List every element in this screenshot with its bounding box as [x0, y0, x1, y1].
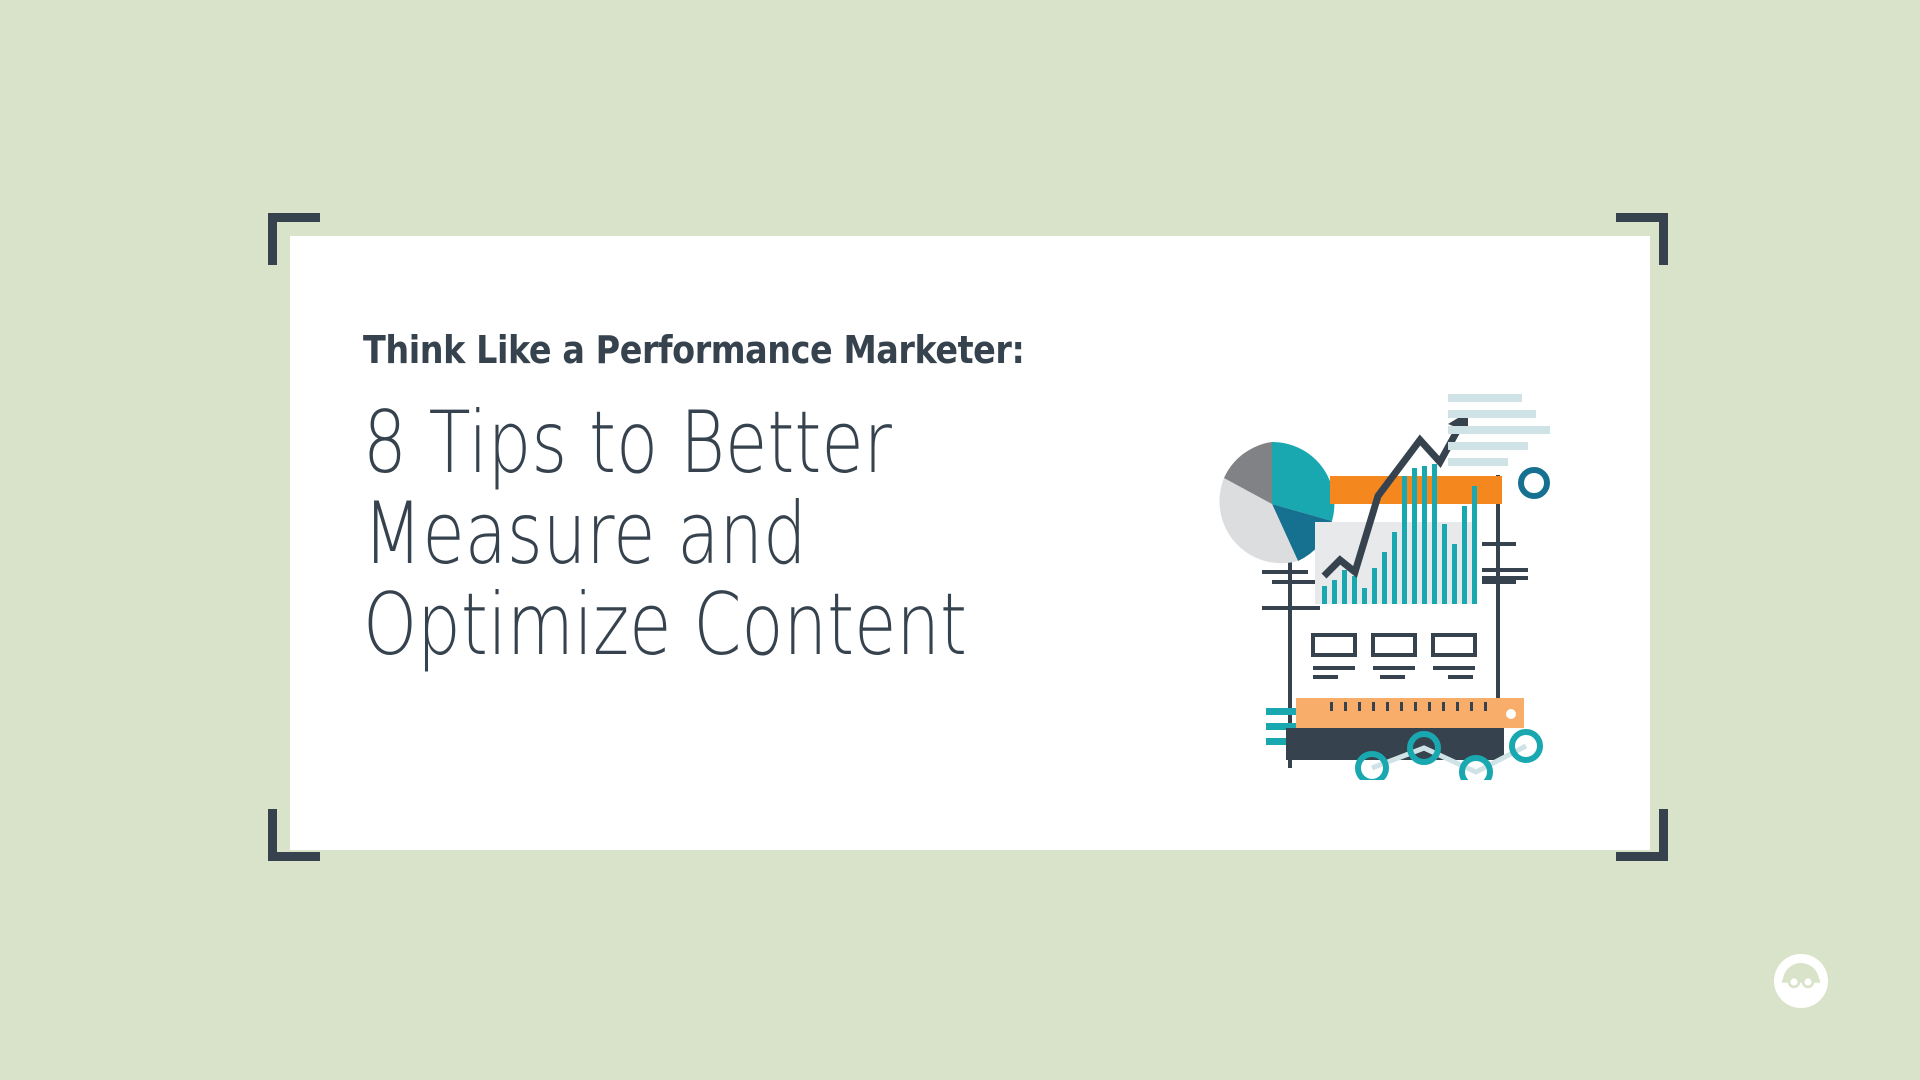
axis-ticks-right — [1482, 475, 1528, 737]
bracket-vertical-arm — [268, 809, 277, 861]
bracket-vertical-arm — [1659, 809, 1668, 861]
eyebrow-text: Think Like a Performance Marketer: — [363, 330, 1067, 372]
title-block: Think Like a Performance Marketer: 8 Tip… — [363, 330, 1163, 671]
dark-bar — [1286, 728, 1504, 760]
headline-line-2: Measure and — [363, 489, 1003, 580]
page-title: 8 Tips to Better Measure and Optimize Co… — [363, 398, 1003, 671]
bracket-vertical-arm — [268, 213, 277, 265]
corner-bracket-bottom-right — [1616, 809, 1668, 861]
text-lines — [1448, 394, 1550, 466]
corner-bracket-top-left — [268, 213, 320, 265]
owl-glasses-logo[interactable] — [1772, 952, 1830, 1010]
corner-bracket-top-right — [1616, 213, 1668, 265]
circle-marker-accent — [1521, 470, 1547, 496]
bracket-vertical-arm — [1659, 213, 1668, 265]
headline-line-1: 8 Tips to Better — [363, 398, 1003, 489]
corner-bracket-bottom-left — [268, 809, 320, 861]
poster-canvas: Think Like a Performance Marketer: 8 Tip… — [0, 0, 1920, 1080]
ruler — [1296, 698, 1524, 728]
headline-line-3: Optimize Content — [363, 580, 1003, 671]
card-boxes — [1313, 635, 1475, 679]
analytics-dashboard-illustration — [1200, 380, 1580, 780]
